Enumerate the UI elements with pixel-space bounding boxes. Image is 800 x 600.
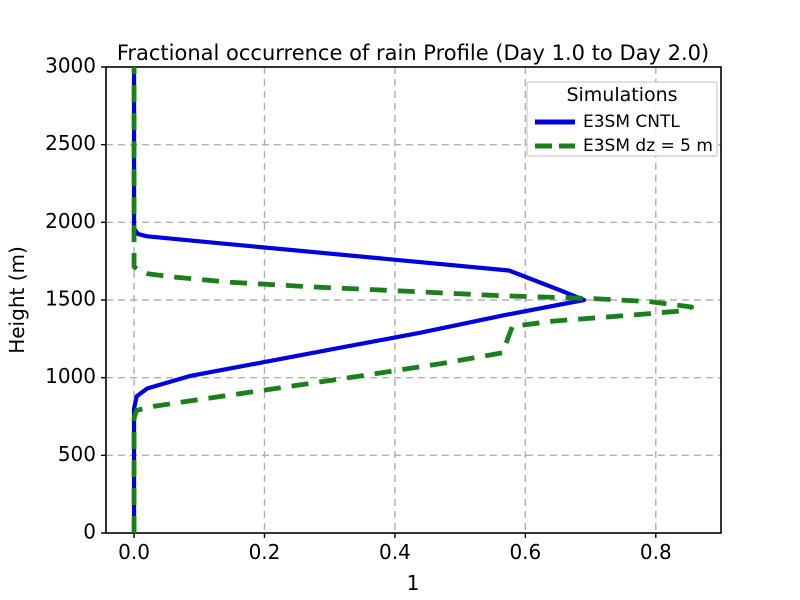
- legend-label-e3sm-cntl: E3SM CNTL: [583, 112, 680, 132]
- y-tick-label: 0: [83, 520, 96, 544]
- y-tick-label: 2000: [45, 209, 96, 233]
- x-tick-label: 0.8: [640, 540, 672, 564]
- y-tick-label: 1000: [45, 364, 96, 388]
- rain-occurrence-profile-chart: Fractional occurrence of rain Profile (D…: [0, 0, 800, 600]
- chart-legend[interactable]: SimulationsE3SM CNTLE3SM dz = 5 m: [527, 82, 717, 156]
- y-tick-label: 500: [58, 442, 96, 466]
- y-tick-label: 1500: [45, 287, 96, 311]
- x-tick-label: 0.6: [509, 540, 541, 564]
- legend-label-e3sm-dz-5-m: E3SM dz = 5 m: [583, 136, 713, 156]
- x-axis-label: 1: [407, 571, 420, 595]
- x-tick-label: 0.2: [249, 540, 281, 564]
- x-tick-label: 0.0: [118, 540, 150, 564]
- y-axis-label: Height (m): [5, 246, 29, 354]
- y-tick-label: 2500: [45, 131, 96, 155]
- chart-title: Fractional occurrence of rain Profile (D…: [117, 41, 709, 65]
- x-tick-label: 0.4: [379, 540, 411, 564]
- legend-title: Simulations: [566, 84, 677, 106]
- y-tick-label: 3000: [45, 54, 96, 78]
- chart-figure: Fractional occurrence of rain Profile (D…: [0, 0, 800, 600]
